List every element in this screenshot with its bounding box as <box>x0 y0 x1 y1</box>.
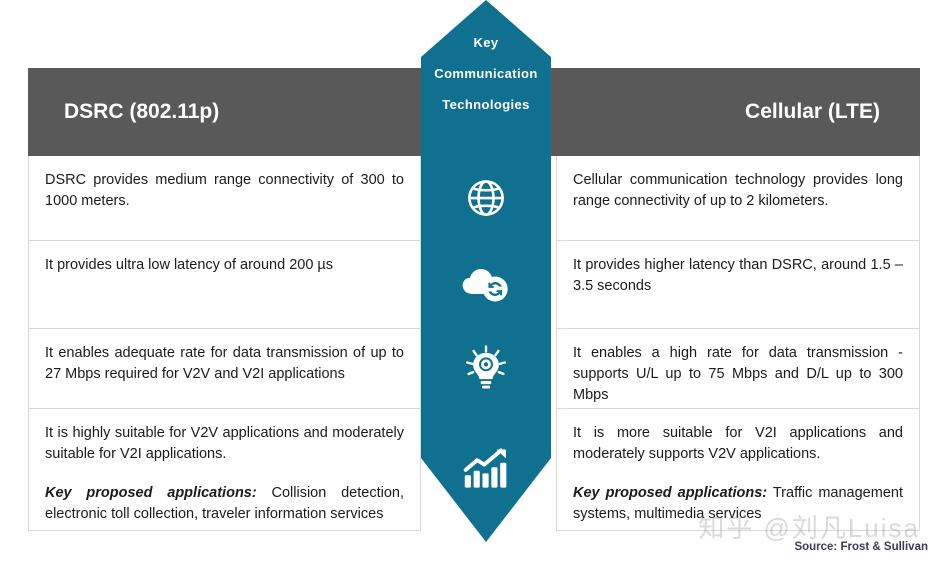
column-dsrc: DSRC provides medium range connectivity … <box>28 156 421 531</box>
cell-text: It is highly suitable for V2V applicatio… <box>45 423 404 465</box>
cell-text: It enables adequate rate for data transm… <box>45 343 404 385</box>
table-row: It is highly suitable for V2V applicatio… <box>29 408 420 530</box>
source-note: Source: Frost & Sullivan <box>794 541 928 553</box>
cell-text: It is more suitable for V2I applications… <box>573 423 903 465</box>
table-row: It is more suitable for V2I applications… <box>557 408 919 530</box>
cell-text: DSRC provides medium range connectivity … <box>45 170 404 212</box>
cell-text: It provides higher latency than DSRC, ar… <box>573 255 903 297</box>
cell-text: It enables a high rate for data transmis… <box>573 343 903 406</box>
cell-text: Cellular communication technology provid… <box>573 170 903 212</box>
table-row: DSRC provides medium range connectivity … <box>29 156 420 240</box>
key-applications-label: Key proposed applications: <box>45 485 257 501</box>
header-title-dsrc: DSRC (802.11p) <box>64 68 219 156</box>
cell-text-key-applications: Key proposed applications: Collision det… <box>45 483 404 525</box>
key-applications-label: Key proposed applications: <box>573 485 767 501</box>
center-arrow-banner <box>421 0 551 542</box>
column-cellular: Cellular communication technology provid… <box>556 156 920 531</box>
table-row: It provides higher latency than DSRC, ar… <box>557 240 919 328</box>
table-row: It enables a high rate for data transmis… <box>557 328 919 408</box>
header-title-cellular: Cellular (LTE) <box>745 68 880 156</box>
cell-text-key-applications: Key proposed applications: Traffic manag… <box>573 483 903 525</box>
comparison-infographic: DSRC (802.11p) Cellular (LTE) DSRC provi… <box>0 0 946 564</box>
table-row: Cellular communication technology provid… <box>557 156 919 240</box>
table-row: It provides ultra low latency of around … <box>29 240 420 328</box>
cell-text: It provides ultra low latency of around … <box>45 255 404 276</box>
table-row: It enables adequate rate for data transm… <box>29 328 420 408</box>
